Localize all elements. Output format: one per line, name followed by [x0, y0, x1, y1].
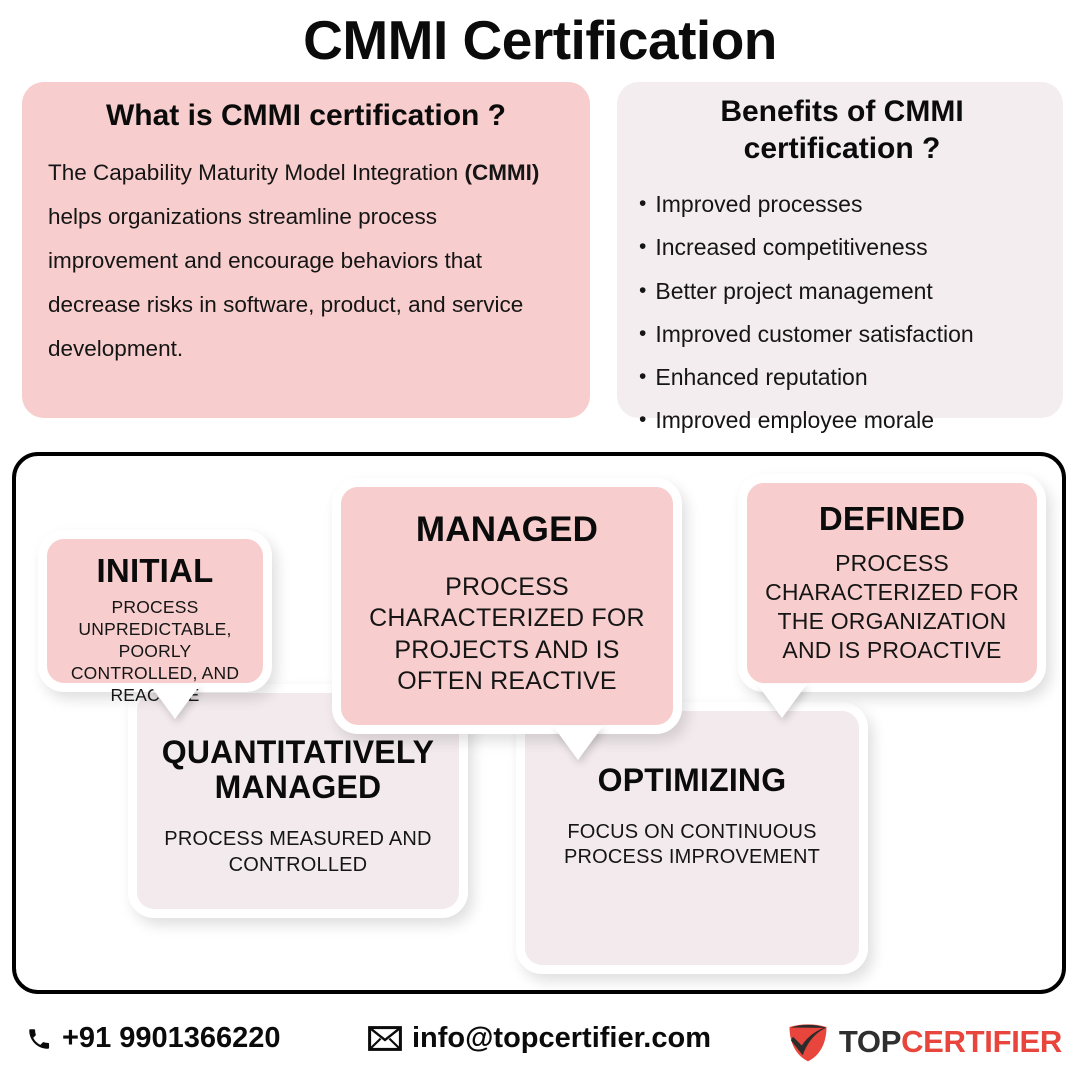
- maturity-card-description: PROCESS CHARACTERIZED FOR PROJECTS AND I…: [353, 572, 661, 698]
- logo-text-certifier: CERTIFIER: [901, 1024, 1062, 1059]
- list-item: •Improved customer satisfaction: [639, 313, 1045, 356]
- logo-wordmark: TOPCERTIFIER: [839, 1024, 1062, 1060]
- topcertifier-logo[interactable]: TOPCERTIFIER: [786, 1020, 1062, 1064]
- benefit-label: Increased competitiveness: [655, 226, 927, 269]
- maturity-card-title: INITIAL: [59, 553, 251, 589]
- contact-email[interactable]: info@topcertifier.com: [368, 1022, 711, 1055]
- envelope-icon: [368, 1025, 402, 1052]
- page-title: CMMI Certification: [0, 8, 1080, 72]
- benefit-label: Improved customer satisfaction: [655, 313, 973, 356]
- bullet-icon: •: [639, 193, 646, 214]
- phone-icon: [26, 1026, 52, 1052]
- maturity-card-defined: DEFINED PROCESS CHARACTERIZED FOR THE OR…: [738, 474, 1046, 692]
- maturity-card-title: QUANTITATIVELY MANAGED: [149, 735, 447, 805]
- what-is-cmmi-heading: What is CMMI certification ?: [48, 98, 564, 135]
- benefit-label: Improved employee morale: [655, 399, 934, 442]
- maturity-card-title: OPTIMIZING: [537, 763, 847, 798]
- phone-number: +91 9901366220: [62, 1022, 281, 1055]
- benefits-heading: Benefits of CMMI certification ?: [639, 94, 1045, 167]
- what-is-cmmi-card: What is CMMI certification ? The Capabil…: [22, 82, 590, 418]
- benefits-card: Benefits of CMMI certification ? •Improv…: [617, 82, 1063, 418]
- benefit-label: Enhanced reputation: [655, 356, 867, 399]
- infographic-page: CMMI Certification What is CMMI certific…: [0, 0, 1080, 1080]
- bullet-icon: •: [639, 323, 646, 344]
- footer: +91 9901366220 info@topcertifier.com: [0, 1004, 1080, 1076]
- list-item: •Enhanced reputation: [639, 356, 1045, 399]
- maturity-card-initial: INITIAL PROCESS UNPREDICTABLE, POORLY CO…: [38, 530, 272, 692]
- maturity-card-description: FOCUS ON CONTINUOUS PROCESS IMPROVEMENT: [537, 820, 847, 870]
- list-item: •Improved employee morale: [639, 399, 1045, 442]
- email-address: info@topcertifier.com: [412, 1022, 711, 1055]
- bullet-icon: •: [639, 236, 646, 257]
- list-item: •Increased competitiveness: [639, 226, 1045, 269]
- maturity-card-managed: MANAGED PROCESS CHARACTERIZED FOR PROJEC…: [332, 478, 682, 734]
- benefit-label: Improved processes: [655, 183, 862, 226]
- what-is-cmmi-body: The Capability Maturity Model Integratio…: [48, 151, 564, 371]
- speech-tail-defined-icon: [757, 684, 807, 718]
- list-item: •Improved processes: [639, 183, 1045, 226]
- maturity-card-description: PROCESS MEASURED AND CONTROLLED: [149, 827, 447, 877]
- benefit-label: Better project management: [655, 270, 932, 313]
- maturity-card-description: PROCESS CHARACTERIZED FOR THE ORGANIZATI…: [759, 549, 1025, 665]
- bullet-icon: •: [639, 409, 646, 430]
- bullet-icon: •: [639, 280, 646, 301]
- body-text-part1: The Capability Maturity Model Integratio…: [48, 160, 464, 185]
- body-text-bold: (CMMI): [464, 160, 539, 185]
- shield-check-icon: [786, 1020, 830, 1064]
- speech-tail-initial-icon: [150, 685, 200, 719]
- contact-phone[interactable]: +91 9901366220: [26, 1022, 281, 1055]
- maturity-card-title: MANAGED: [353, 511, 661, 550]
- bullet-icon: •: [639, 366, 646, 387]
- speech-tail-managed-icon: [553, 726, 603, 760]
- maturity-card-title: DEFINED: [759, 501, 1025, 537]
- logo-text-top: TOP: [839, 1024, 901, 1059]
- benefits-list: •Improved processes •Increased competiti…: [639, 183, 1045, 442]
- list-item: •Better project management: [639, 270, 1045, 313]
- body-text-part2: helps organizations streamline process i…: [48, 204, 523, 361]
